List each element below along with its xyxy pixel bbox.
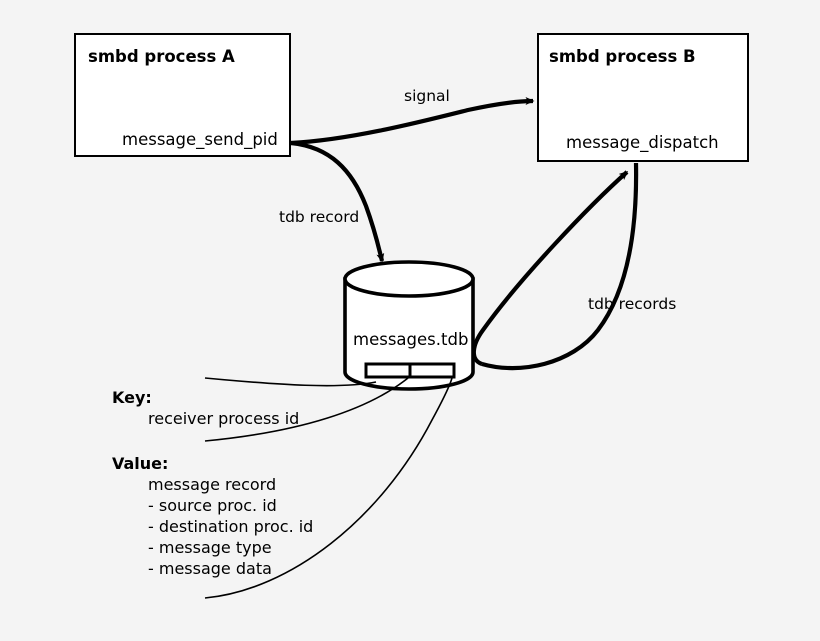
key-line-0: receiver process id [148,409,299,428]
value-line-3: - message type [148,538,272,557]
process-b-function-label: message_dispatch [566,133,719,152]
process-a-title: smbd process A [88,47,235,66]
signal-edge-label: signal [404,87,450,105]
tdb-record-edge-label: tdb record [279,208,359,226]
messages-tdb-label: messages.tdb [353,330,468,349]
process-b-title: smbd process B [549,47,696,66]
process-a-function-label: message_send_pid [122,130,278,149]
record-cell-key [366,364,410,377]
value-line-4: - message data [148,559,272,578]
value-line-1: - source proc. id [148,496,277,515]
value-line-0: message record [148,475,276,494]
value-heading: Value: [112,454,168,473]
cylinder-top [345,262,473,296]
tdb-records-connector-up [474,172,627,364]
record-cell-value [410,364,454,377]
value-line-2: - destination proc. id [148,517,313,536]
tdb-records-connector-down [482,163,636,368]
messages-tdb-cylinder [345,262,473,389]
tdb-records-edge-label: tdb records [588,295,676,313]
key-heading: Key: [112,388,152,407]
signal-connector [291,101,533,143]
tdb-record-connector [291,143,382,261]
diagram-canvas: smbd process A message_send_pid smbd pro… [0,0,820,641]
